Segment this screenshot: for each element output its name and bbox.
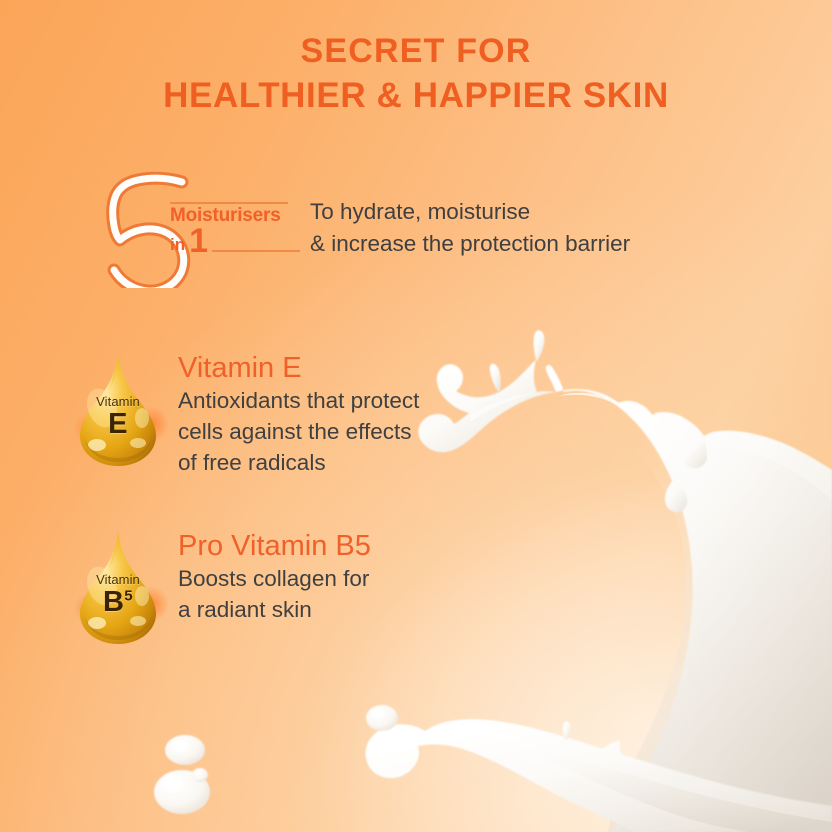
vitamin-e-body-line-1: Antioxidants that protect: [178, 386, 419, 417]
five-copy-line-2: & increase the protection barrier: [310, 228, 630, 260]
feature-vitamin-b5: Vitamin B5 Pro Vitamin B5 Boosts collage…: [66, 528, 536, 646]
vitamin-e-body: Antioxidants that protect cells against …: [178, 386, 419, 478]
vitamin-e-droplet-icon: Vitamin E: [66, 350, 170, 468]
headline-line-2: HEALTHIER & HAPPIER SKIN: [0, 74, 832, 119]
divider-top: [170, 202, 288, 204]
headline: SECRET FOR HEALTHIER & HAPPIER SKIN: [0, 30, 832, 118]
headline-line-1: SECRET FOR: [0, 30, 832, 74]
five-in-one-copy: To hydrate, moisturise & increase the pr…: [310, 176, 630, 260]
vitamin-e-body-line-2: cells against the effects: [178, 417, 419, 448]
five-in-one-text: Moisturisers in 1: [168, 202, 300, 256]
number-one-label: 1: [189, 227, 208, 256]
vitamin-e-text-block: Vitamin E Antioxidants that protect cell…: [178, 350, 419, 478]
in-label: in: [170, 236, 185, 256]
vitamin-b5-body-line-1: Boosts collagen for: [178, 564, 371, 595]
vitamin-b5-droplet-icon: Vitamin B5: [66, 528, 170, 646]
divider-bottom: [212, 250, 300, 252]
vitamin-b5-body-line-2: a radiant skin: [178, 595, 371, 626]
feature-vitamin-e: Vitamin E Vitamin E Antioxidants that pr…: [66, 350, 536, 478]
promo-graphic: SECRET FOR HEALTHIER & HAPPIER SKIN Mois…: [0, 0, 832, 832]
vitamin-e-title: Vitamin E: [178, 352, 419, 384]
vitamin-b5-title: Pro Vitamin B5: [178, 530, 371, 562]
vitamin-b5-body: Boosts collagen for a radiant skin: [178, 564, 371, 625]
vitamin-b5-text-block: Pro Vitamin B5 Boosts collagen for a rad…: [178, 528, 371, 626]
feature-five-in-one: Moisturisers in 1 To hydrate, moisturise…: [96, 176, 756, 280]
five-in-one-badge: Moisturisers in 1: [96, 176, 296, 280]
vitamin-e-body-line-3: of free radicals: [178, 448, 419, 479]
five-copy-line-1: To hydrate, moisturise: [310, 196, 630, 228]
in-one-group: in 1: [170, 227, 300, 256]
